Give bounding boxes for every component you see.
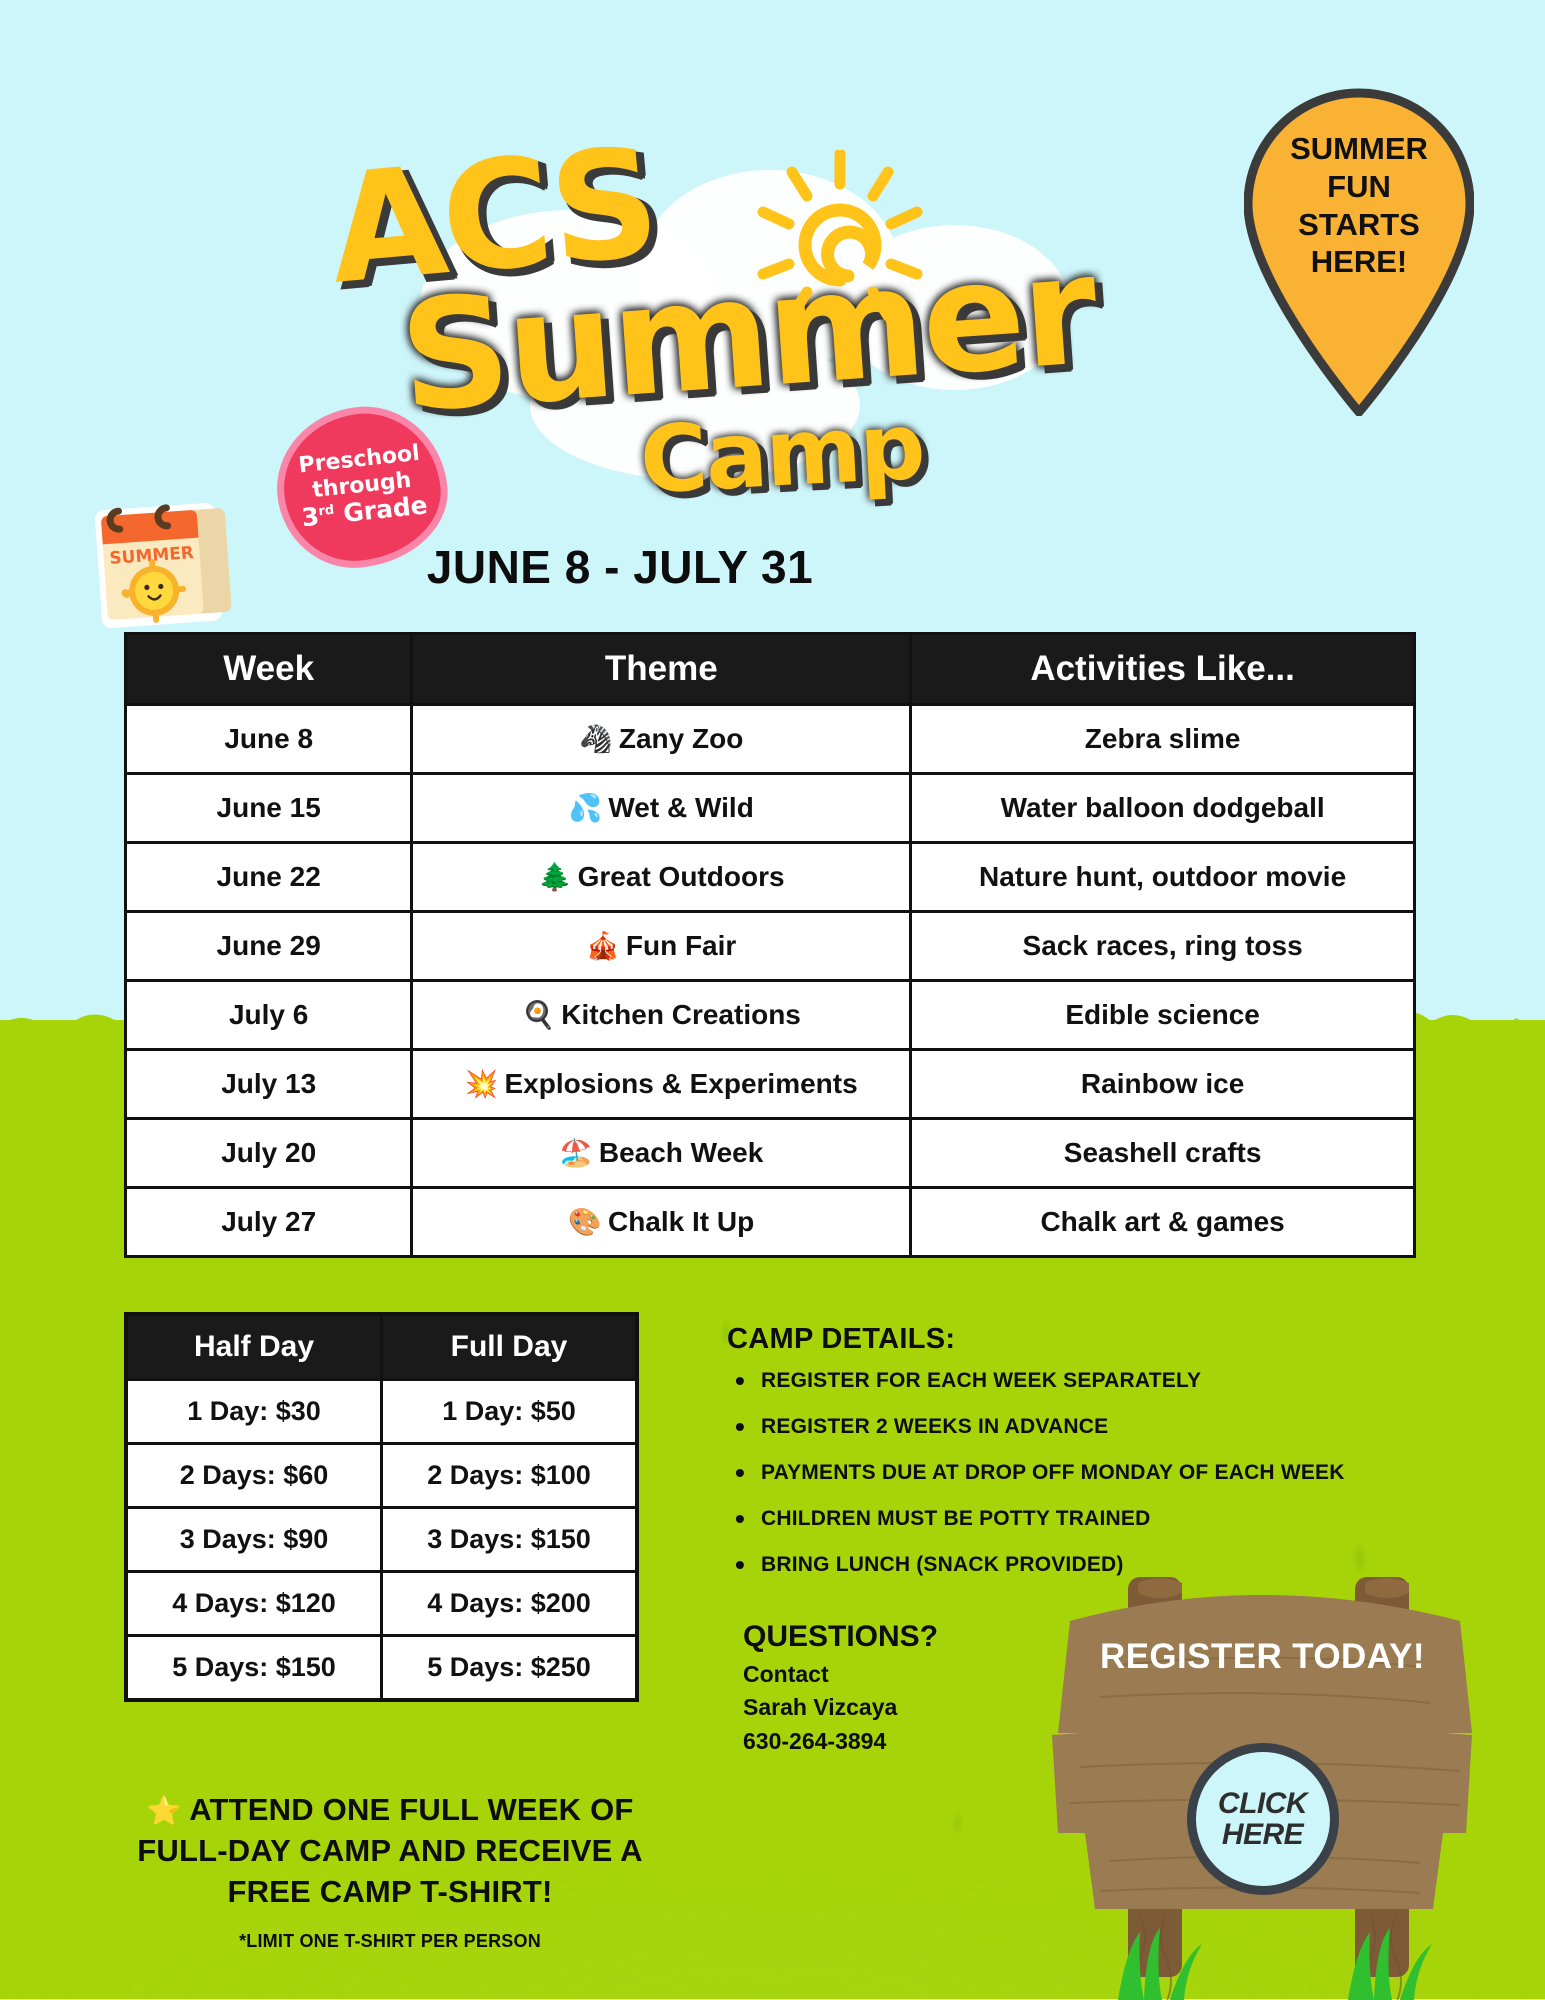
schedule-cell-theme: 🏖️Beach Week (412, 1119, 911, 1188)
schedule-cell-activities: Water balloon dodgeball (911, 774, 1415, 843)
schedule-table: Week Theme Activities Like... June 8🦓Zan… (124, 632, 1416, 1258)
theme-label: Wet & Wild (608, 792, 753, 823)
theme-emoji-icon: 🎪 (586, 931, 620, 961)
schedule-cell-week: July 6 (126, 981, 412, 1050)
pricing-cell-full: 2 Days: $100 (382, 1444, 638, 1508)
schedule-col-theme: Theme (412, 634, 911, 705)
schedule-cell-theme: 🍳Kitchen Creations (412, 981, 911, 1050)
pricing-cell-full: 1 Day: $50 (382, 1380, 638, 1444)
list-item: REGISTER 2 WEEKS IN ADVANCE (727, 1415, 1427, 1439)
theme-emoji-icon: 🎨 (568, 1207, 602, 1237)
schedule-cell-activities: Rainbow ice (911, 1050, 1415, 1119)
table-row: 3 Days: $903 Days: $150 (126, 1508, 637, 1572)
schedule-cell-week: July 27 (126, 1188, 412, 1257)
schedule-cell-theme: 🌲Great Outdoors (412, 843, 911, 912)
schedule-col-activities: Activities Like... (911, 634, 1415, 705)
theme-label: Explosions & Experiments (504, 1068, 857, 1099)
pricing-cell-half: 3 Days: $90 (126, 1508, 382, 1572)
pricing-header-row: Half Day Full Day (126, 1314, 637, 1380)
table-row: June 22🌲Great OutdoorsNature hunt, outdo… (126, 843, 1415, 912)
click-here-line1: CLICK (1218, 1788, 1307, 1820)
pin-line2: FUN (1244, 168, 1474, 206)
theme-emoji-icon: 🦓 (579, 724, 613, 754)
pricing-cell-half: 2 Days: $60 (126, 1444, 382, 1508)
theme-label: Fun Fair (626, 930, 736, 961)
theme-emoji-icon: 🌲 (538, 862, 572, 892)
theme-emoji-icon: 🏖️ (559, 1138, 593, 1168)
pin-line4: HERE! (1244, 243, 1474, 281)
schedule-cell-theme: 🎨Chalk It Up (412, 1188, 911, 1257)
table-row: July 27🎨Chalk It UpChalk art & games (126, 1188, 1415, 1257)
theme-emoji-icon: 💦 (569, 793, 603, 823)
theme-label: Beach Week (599, 1137, 763, 1168)
pricing-cell-half: 4 Days: $120 (126, 1572, 382, 1636)
table-row: July 6🍳Kitchen CreationsEdible science (126, 981, 1415, 1050)
list-item: PAYMENTS DUE AT DROP OFF MONDAY OF EACH … (727, 1461, 1427, 1485)
sun-swirl-icon (745, 150, 935, 340)
theme-label: Zany Zoo (619, 723, 743, 754)
theme-emoji-icon: 💥 (465, 1069, 499, 1099)
schedule-cell-week: July 20 (126, 1119, 412, 1188)
schedule-col-week: Week (126, 634, 412, 705)
schedule-cell-theme: 🎪Fun Fair (412, 912, 911, 981)
schedule-cell-week: June 22 (126, 843, 412, 912)
pricing-cell-half: 5 Days: $150 (126, 1636, 382, 1701)
schedule-cell-week: July 13 (126, 1050, 412, 1119)
schedule-cell-activities: Sack races, ring toss (911, 912, 1415, 981)
schedule-cell-week: June 29 (126, 912, 412, 981)
promo-line3: FREE CAMP T-SHIRT! (110, 1872, 670, 1913)
table-row: 4 Days: $1204 Days: $200 (126, 1572, 637, 1636)
pricing-col-full-day: Full Day (382, 1314, 638, 1380)
schedule-cell-theme: 🦓Zany Zoo (412, 705, 911, 774)
register-sign[interactable]: REGISTER TODAY! CLICK HERE (1040, 1555, 1485, 2000)
list-item: REGISTER FOR EACH WEEK SEPARATELY (727, 1369, 1427, 1393)
pricing-cell-full: 4 Days: $200 (382, 1572, 638, 1636)
schedule-cell-theme: 💦Wet & Wild (412, 774, 911, 843)
schedule-header-row: Week Theme Activities Like... (126, 634, 1415, 705)
camp-dates: JUNE 8 - JULY 31 (0, 540, 1240, 594)
pricing-cell-full: 3 Days: $150 (382, 1508, 638, 1572)
list-item: CHILDREN MUST BE POTTY TRAINED (727, 1507, 1427, 1531)
promo-line1: ⭐ ATTEND ONE FULL WEEK OF (110, 1790, 670, 1831)
tshirt-promo: ⭐ ATTEND ONE FULL WEEK OF FULL-DAY CAMP … (110, 1790, 670, 1952)
pricing-table: Half Day Full Day 1 Day: $301 Day: $502 … (124, 1312, 639, 1702)
table-row: June 15💦Wet & WildWater balloon dodgebal… (126, 774, 1415, 843)
theme-label: Kitchen Creations (561, 999, 801, 1030)
theme-label: Great Outdoors (578, 861, 785, 892)
promo-line2: FULL-DAY CAMP AND RECEIVE A (110, 1831, 670, 1872)
table-row: 1 Day: $301 Day: $50 (126, 1380, 637, 1444)
click-here-button[interactable]: CLICK HERE (1187, 1743, 1339, 1895)
camp-details-title: CAMP DETAILS: (727, 1323, 1427, 1356)
table-row: July 13💥Explosions & ExperimentsRainbow … (126, 1050, 1415, 1119)
table-row: 2 Days: $602 Days: $100 (126, 1444, 637, 1508)
schedule-cell-activities: Edible science (911, 981, 1415, 1050)
table-row: 5 Days: $1505 Days: $250 (126, 1636, 637, 1701)
theme-emoji-icon: 🍳 (522, 1000, 556, 1030)
pin-line3: STARTS (1244, 206, 1474, 244)
star-icon: ⭐ (146, 1795, 181, 1826)
schedule-cell-activities: Seashell crafts (911, 1119, 1415, 1188)
table-row: June 8🦓Zany ZooZebra slime (126, 705, 1415, 774)
pricing-cell-half: 1 Day: $30 (126, 1380, 382, 1444)
promo-fine-print: *LIMIT ONE T-SHIRT PER PERSON (110, 1931, 670, 1952)
pin-text: SUMMER FUN STARTS HERE! (1244, 130, 1474, 281)
summer-fun-pin: SUMMER FUN STARTS HERE! (1244, 86, 1474, 416)
pricing-col-half-day: Half Day (126, 1314, 382, 1380)
schedule-cell-activities: Nature hunt, outdoor movie (911, 843, 1415, 912)
pricing-cell-full: 5 Days: $250 (382, 1636, 638, 1701)
logo-camp-text: Camp (637, 393, 926, 515)
schedule-cell-week: June 15 (126, 774, 412, 843)
theme-label: Chalk It Up (608, 1206, 754, 1237)
schedule-cell-theme: 💥Explosions & Experiments (412, 1050, 911, 1119)
pin-line1: SUMMER (1244, 130, 1474, 168)
table-row: July 20🏖️Beach WeekSeashell crafts (126, 1119, 1415, 1188)
schedule-cell-activities: Zebra slime (911, 705, 1415, 774)
camp-details-list: REGISTER FOR EACH WEEK SEPARATELYREGISTE… (727, 1369, 1427, 1577)
table-row: June 29🎪Fun FairSack races, ring toss (126, 912, 1415, 981)
schedule-cell-activities: Chalk art & games (911, 1188, 1415, 1257)
schedule-cell-week: June 8 (126, 705, 412, 774)
click-here-line2: HERE (1222, 1819, 1303, 1851)
sign-title: REGISTER TODAY! (1040, 1637, 1485, 1677)
promo-line1-text: ATTEND ONE FULL WEEK OF (189, 1792, 633, 1827)
camp-logo: ACS Summer Camp Preschool through 3rd Gr… (0, 70, 1240, 500)
